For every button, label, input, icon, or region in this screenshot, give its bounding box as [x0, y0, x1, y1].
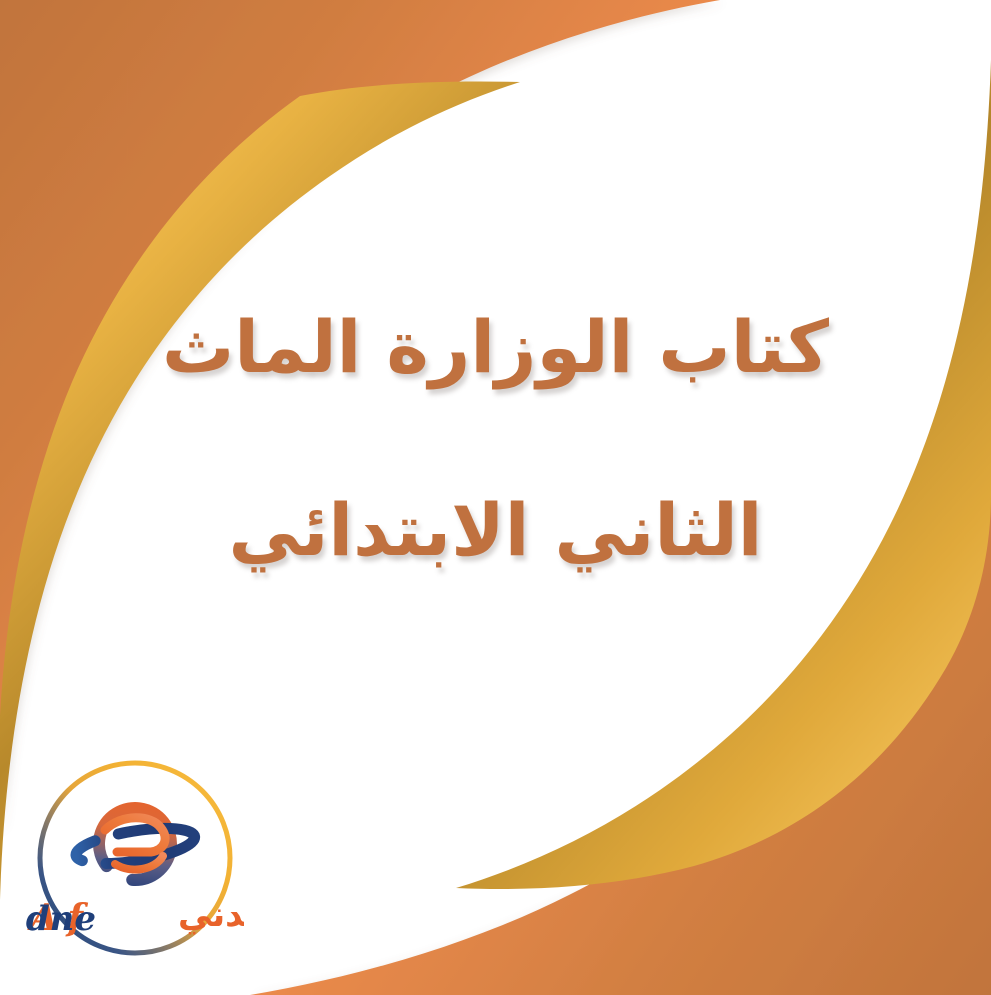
brand-logo[interactable]: A f edne أفدني Afedne أفدني: [26, 748, 244, 976]
cover-title: كتاب الوزارة الماث الثاني الابتدائي: [0, 300, 991, 578]
title-line-1: كتاب الوزارة الماث: [0, 300, 991, 395]
logo-brand-latin-label: Afedne: [243, 976, 244, 977]
logo-arabic: أفدني: [178, 892, 244, 935]
book-cover: كتاب الوزارة الماث الثاني الابتدائي: [0, 0, 991, 995]
logo-brand-arabic-label: أفدني: [243, 976, 244, 977]
title-line-2: الثاني الابتدائي: [0, 483, 991, 578]
logo-latin-edne: edne: [26, 899, 96, 939]
